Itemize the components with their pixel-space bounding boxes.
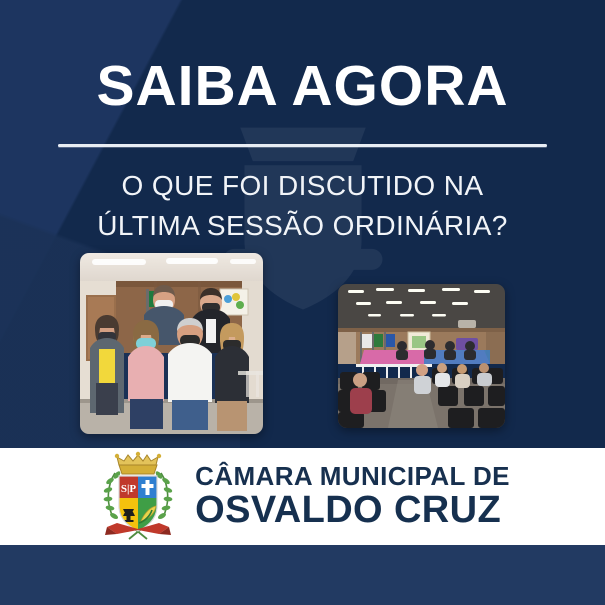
- footer-line-2: OSVALDO CRUZ: [195, 490, 510, 531]
- footer-bar: S|P: [0, 448, 605, 545]
- page-subtitle: O QUE FOI DISCUTIDO NA ÚLTIMA SESSÃO ORD…: [0, 166, 605, 246]
- coat-of-arms-icon: S|P: [95, 451, 181, 543]
- group-photo-council-chamber: [80, 253, 263, 434]
- footer-org-name: CÂMARA MUNICIPAL DE OSVALDO CRUZ: [195, 462, 510, 531]
- poster-canvas: SAIBA AGORA O QUE FOI DISCUTIDO NA ÚLTIM…: [0, 0, 605, 605]
- footer-line-1: CÂMARA MUNICIPAL DE: [195, 462, 510, 490]
- subtitle-line-1: O QUE FOI DISCUTIDO NA: [0, 166, 605, 206]
- subtitle-line-2: ÚLTIMA SESSÃO ORDINÁRIA?: [0, 206, 605, 246]
- title-divider: [58, 144, 547, 147]
- bottom-band: [0, 545, 605, 605]
- svg-text:S|P: S|P: [121, 483, 137, 495]
- page-title: SAIBA AGORA: [0, 58, 605, 115]
- session-photo-plenary: [338, 284, 505, 428]
